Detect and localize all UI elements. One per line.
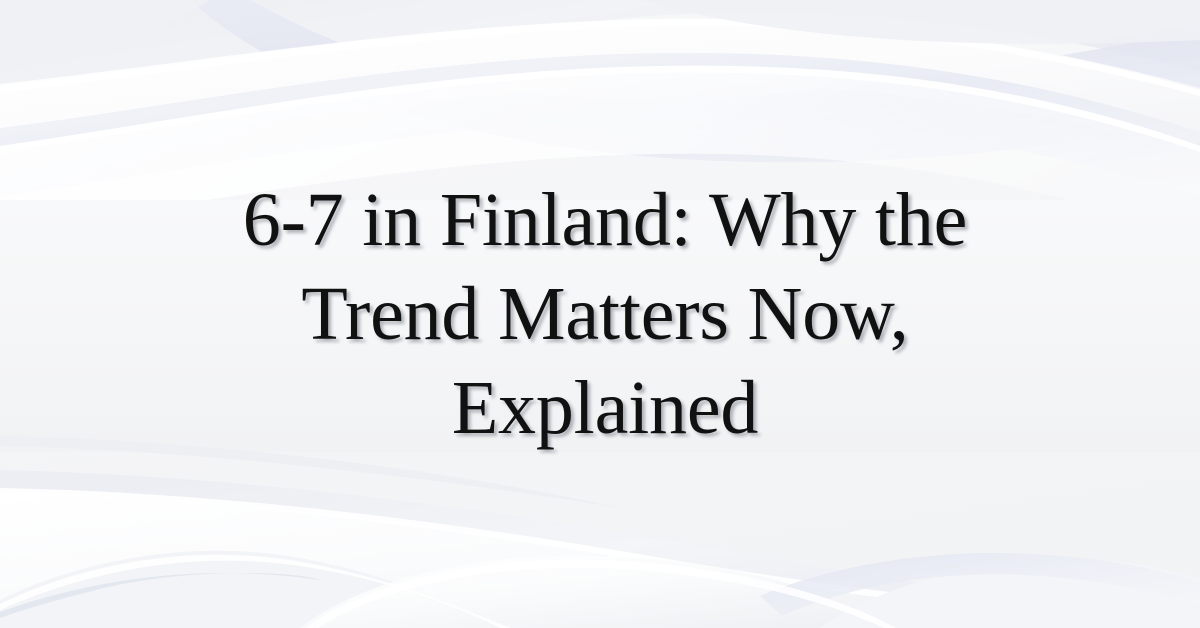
social-card: 6-7 in Finland: Why the Trend Matters No… <box>0 0 1200 628</box>
page-title: 6-7 in Finland: Why the Trend Matters No… <box>165 173 1035 455</box>
title-block: 6-7 in Finland: Why the Trend Matters No… <box>0 0 1200 628</box>
